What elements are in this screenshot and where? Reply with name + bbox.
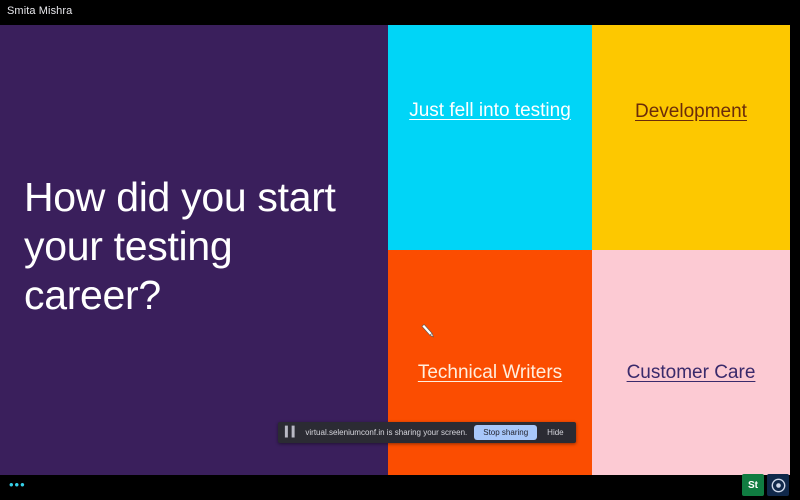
slide-answer-quadrants: Just fell into testing Development Techn… [388,25,790,475]
quadrant-customer-care[interactable]: Customer Care [592,250,790,475]
stop-sharing-button[interactable]: Stop sharing [474,425,537,440]
participant-name-strip: Smita Mishra [0,0,800,25]
screen-sharing-notification: ▍▍ virtual.seleniumconf.in is sharing yo… [278,422,576,443]
participant-name-label: Smita Mishra [7,5,72,17]
spreadsheet-app-icon[interactable]: St [742,474,764,496]
quadrant-label: Just fell into testing [399,99,581,123]
quadrant-label: Technical Writers [408,361,572,385]
slide-question-text: How did you start your testing career? [24,173,354,319]
taskbar-tray: St [742,474,789,496]
slide-question-panel: How did you start your testing career? [0,25,388,475]
quadrant-development[interactable]: Development [592,25,790,250]
sharing-message: virtual.seleniumconf.in is sharing your … [305,428,467,437]
shared-screen-stage[interactable]: How did you start your testing career? J… [0,25,790,475]
taskbar [0,475,800,500]
media-app-icon[interactable] [767,474,789,496]
more-options-button[interactable]: ••• [9,478,26,491]
video-conference-screen: Smita Mishra How did you start your test… [0,0,800,500]
hide-notification-button[interactable]: Hide [544,426,566,439]
quadrant-label: Customer Care [617,361,766,385]
pause-icon[interactable]: ▍▍ [285,427,298,438]
quadrant-just-fell-into-testing[interactable]: Just fell into testing [388,25,592,250]
quadrant-label: Development [625,100,757,124]
spreadsheet-app-label: St [748,480,758,491]
